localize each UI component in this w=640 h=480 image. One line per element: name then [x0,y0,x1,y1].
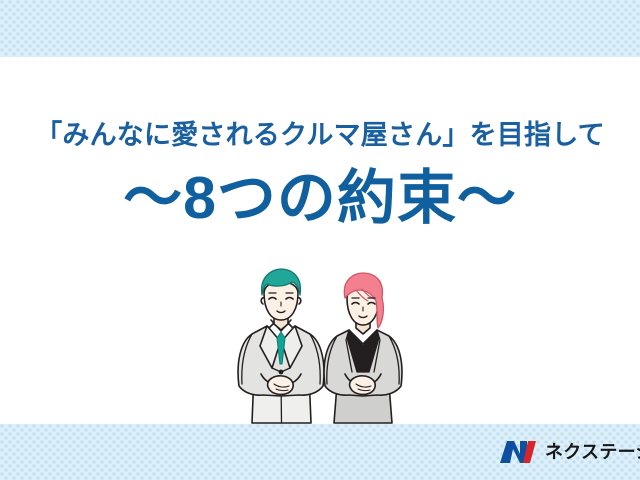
brand-logo: ネクステージ [498,437,640,467]
slide-canvas: 「みんなに愛されるクルマ屋さん」を目指して 〜8つの約束〜 [0,0,640,480]
headline-primary-text: 「みんなに愛されるクルマ屋さん」を目指して [0,118,640,152]
nextage-n-mark-icon [498,439,538,465]
staff-illustration [228,268,414,428]
brand-wordmark: ネクステージ [545,442,640,462]
headline-emphasis-text: 〜8つの約束〜 [0,166,640,230]
top-dotted-band [0,0,640,57]
female-staff-figure [324,273,402,423]
headline-block: 「みんなに愛されるクルマ屋さん」を目指して 〜8つの約束〜 [0,118,640,230]
male-staff-figure [238,269,324,423]
